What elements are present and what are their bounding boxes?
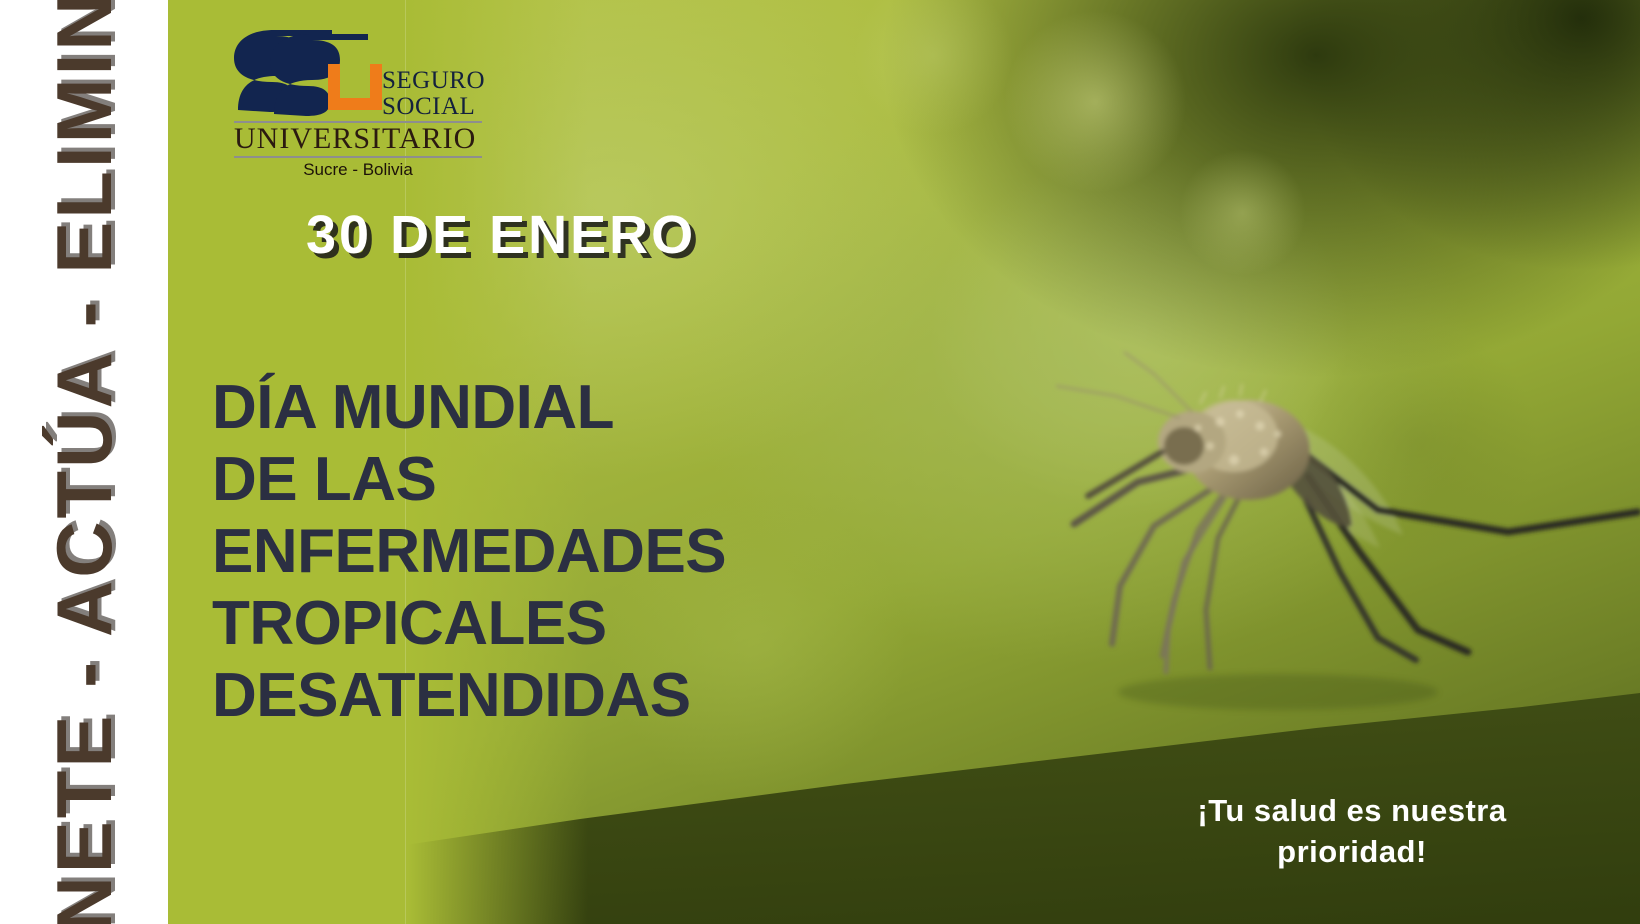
sidebar-slogan: ÚNETE - ACTÚA - ELIMINA [45,0,123,924]
sidebar-rotor: ÚNETE - ACTÚA - ELIMINA [45,0,123,924]
logo-institution-wrap: UNIVERSITARIO [234,124,484,154]
headline-line-2: DE LAS [212,444,852,516]
event-date: 30 DE ENERO [306,204,696,266]
headline-block: DÍA MUNDIAL DE LAS ENFERMEDADES TROPICAL… [212,372,852,732]
tagline-line-2: prioridad! [1132,831,1572,872]
logo-word-seguro: SEGURO [382,68,512,94]
logo-city: Sucre - Bolivia [234,160,482,180]
organization-logo: SEGURO SOCIAL UNIVERSITARIO Sucre - Boli… [232,24,502,166]
headline-line-3: ENFERMEDADES [212,516,852,588]
tagline-line-1: ¡Tu salud es nuestra [1132,790,1572,831]
logo-rule-bottom [234,156,482,158]
ssu-monogram-icon [232,24,392,119]
left-sidebar: ÚNETE - ACTÚA - ELIMINA [0,0,168,924]
headline-line-4: TROPICALES [212,588,852,660]
logo-wordmark: SEGURO SOCIAL [382,68,512,119]
content-layer: SEGURO SOCIAL UNIVERSITARIO Sucre - Boli… [0,0,1640,924]
headline-line-5: DESATENDIDAS [212,660,852,732]
logo-word-social: SOCIAL [382,94,512,120]
headline-line-1: DÍA MUNDIAL [212,372,852,444]
tagline-block: ¡Tu salud es nuestra prioridad! [1132,790,1572,872]
logo-institution: UNIVERSITARIO [234,124,484,154]
poster-canvas: ÚNETE - ACTÚA - ELIMINA SEGURO SOCIAL UN… [0,0,1640,924]
